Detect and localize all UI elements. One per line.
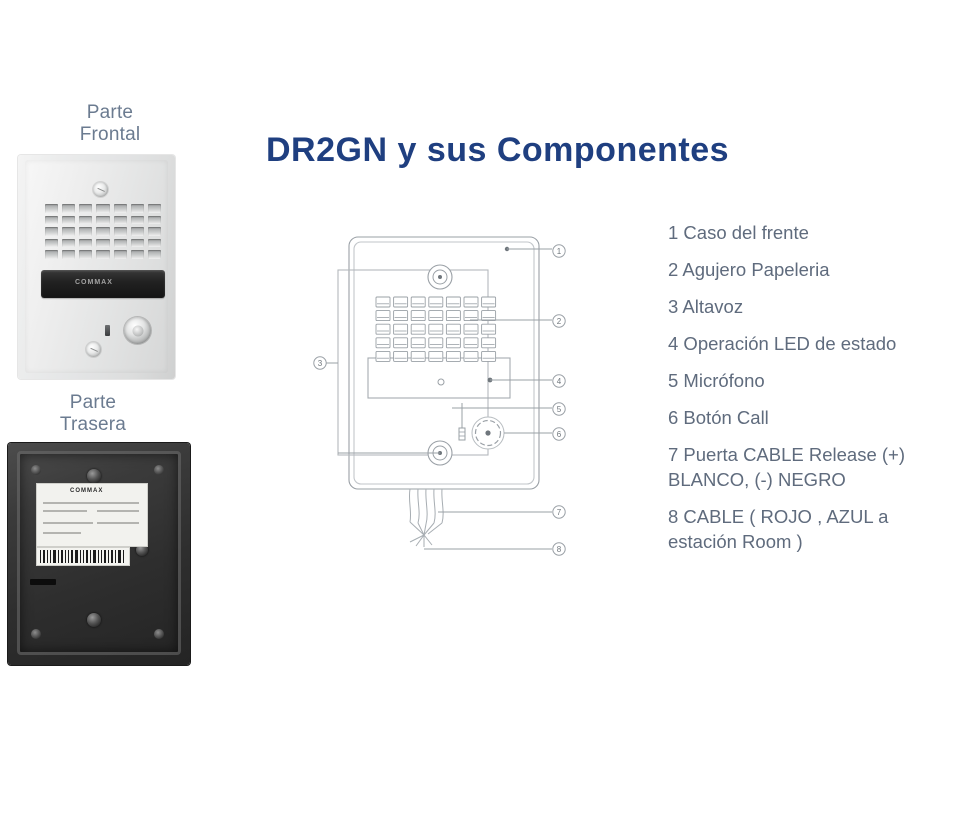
grille-slot — [376, 311, 390, 321]
grille-slot — [482, 324, 496, 334]
grille-slot — [45, 250, 58, 259]
grille-slot — [45, 216, 58, 225]
grille-slot — [394, 351, 408, 361]
grille-slot — [62, 239, 75, 248]
drawing-wire-bundle — [409, 489, 443, 547]
grille-slot — [62, 227, 75, 236]
barcode-bar — [101, 550, 102, 563]
grille-slot — [96, 216, 109, 225]
grille-slot — [79, 204, 92, 213]
rear-mount-hole-icon — [87, 469, 101, 483]
grille-slot — [131, 216, 144, 225]
grille-slot — [394, 338, 408, 348]
callout-number-1: 1 — [557, 247, 562, 256]
callout-number-2: 2 — [557, 317, 562, 326]
legend-item-5: 5 Micrófono — [668, 368, 958, 393]
grille-slot — [376, 351, 390, 361]
grille-slot — [411, 311, 425, 321]
slide-canvas: Parte Frontal COMMAX Parte Trasera COMMA… — [0, 0, 960, 820]
component-line-drawing: 12345678 — [300, 225, 590, 575]
barcode-bar — [111, 550, 113, 563]
barcode-bar — [43, 550, 45, 563]
grille-slot — [131, 250, 144, 259]
front-photo-label: Parte Frontal — [55, 102, 165, 146]
legend-item-4: 4 Operación LED de estado — [668, 331, 958, 356]
grille-slot — [446, 297, 460, 307]
grille-slot — [464, 297, 478, 307]
barcode-bar — [71, 550, 73, 563]
grille-slot — [96, 204, 109, 213]
front-call-button-icon — [124, 317, 151, 344]
grille-slot — [429, 311, 443, 321]
barcode-bar — [47, 550, 48, 563]
callout-number-7: 7 — [557, 508, 562, 517]
barcode-bar — [115, 550, 116, 563]
grille-slot — [394, 324, 408, 334]
grille-slot — [429, 297, 443, 307]
grille-slot — [96, 227, 109, 236]
grille-slot — [429, 351, 443, 361]
grille-slot — [45, 227, 58, 236]
grille-slot — [62, 216, 75, 225]
rear-corner-screw-icon — [154, 629, 164, 639]
grille-slot — [114, 204, 127, 213]
grille-slot — [79, 216, 92, 225]
barcode-bar — [80, 550, 81, 563]
grille-slot — [464, 324, 478, 334]
drawing-leader-lines — [320, 249, 552, 549]
drawing-speaker-grille — [376, 297, 496, 361]
grille-slot — [148, 239, 161, 248]
legend-item-2: 2 Agujero Papeleria — [668, 257, 958, 282]
callout-number-3: 3 — [318, 359, 323, 368]
callout-number-8: 8 — [557, 545, 562, 554]
grille-slot — [482, 311, 496, 321]
grille-slot — [446, 351, 460, 361]
rear-photo-label: Parte Trasera — [38, 392, 148, 436]
grille-slot — [79, 227, 92, 236]
grille-slot — [148, 250, 161, 259]
rear-mount-hole-icon — [87, 613, 101, 627]
barcode-bar — [86, 550, 88, 563]
barcode-bar — [90, 550, 91, 563]
rear-brand-text: COMMAX — [70, 488, 103, 494]
grille-slot — [482, 351, 496, 361]
grille-slot — [482, 297, 496, 307]
grille-slot — [114, 239, 127, 248]
barcode-bar — [123, 550, 124, 563]
barcode-bar — [65, 550, 66, 563]
drawing-screws — [428, 265, 452, 465]
barcode-bar — [53, 550, 56, 563]
front-bezel: COMMAX — [25, 160, 168, 373]
barcode-bar — [93, 550, 96, 563]
grille-slot — [411, 324, 425, 334]
page-title: DR2GN y sus Componentes — [266, 131, 729, 170]
grille-slot — [429, 338, 443, 348]
barcode-bar — [75, 550, 78, 563]
grille-slot — [79, 239, 92, 248]
front-nameplate: COMMAX — [41, 270, 165, 298]
rear-corner-screw-icon — [31, 465, 41, 475]
grille-slot — [446, 311, 460, 321]
grille-slot — [96, 239, 109, 248]
grille-slot — [446, 324, 460, 334]
drawing-microphone-hole — [438, 379, 444, 385]
front-top-screw-icon — [93, 182, 108, 197]
front-brand-text: COMMAX — [75, 279, 113, 286]
rear-corner-screw-icon — [154, 465, 164, 475]
barcode-bar — [118, 550, 121, 563]
rear-wire-slot — [30, 579, 56, 585]
legend-item-7: 7 Puerta CABLE Release (+) BLANCO, (-) N… — [668, 442, 958, 492]
callout-number-4: 4 — [557, 377, 562, 386]
rear-unit-photo: COMMAX — [8, 443, 190, 665]
grille-slot — [131, 227, 144, 236]
grille-slot — [394, 297, 408, 307]
front-bottom-screw-icon — [86, 342, 101, 357]
legend-item-6: 6 Botón Call — [668, 405, 958, 430]
grille-slot — [464, 351, 478, 361]
grille-slot — [411, 297, 425, 307]
grille-slot — [114, 227, 127, 236]
grille-slot — [411, 338, 425, 348]
barcode-bar — [104, 550, 106, 563]
grille-slot — [376, 338, 390, 348]
grille-slot — [148, 204, 161, 213]
rear-barcode-icon — [36, 547, 130, 566]
grille-slot — [79, 250, 92, 259]
grille-slot — [482, 338, 496, 348]
drawing-call-button — [472, 417, 504, 449]
rear-corner-screw-icon — [31, 629, 41, 639]
grille-slot — [62, 250, 75, 259]
rear-spec-label: COMMAX — [36, 483, 148, 547]
grille-slot — [148, 227, 161, 236]
callout-number-6: 6 — [557, 430, 562, 439]
barcode-bar — [108, 550, 109, 563]
grille-slot — [96, 250, 109, 259]
front-speaker-grille — [45, 204, 161, 259]
grille-slot — [131, 239, 144, 248]
legend-item-1: 1 Caso del frente — [668, 220, 958, 245]
barcode-bar — [98, 550, 99, 563]
barcode-bar — [50, 550, 51, 563]
grille-slot — [114, 250, 127, 259]
grille-slot — [429, 324, 443, 334]
barcode-bar — [68, 550, 69, 563]
grille-slot — [148, 216, 161, 225]
barcode-bar — [58, 550, 59, 563]
drawing-led-stem — [459, 403, 465, 440]
grille-slot — [131, 204, 144, 213]
front-status-led-icon — [105, 325, 110, 336]
front-unit-photo: COMMAX — [18, 155, 175, 379]
barcode-bar — [40, 550, 41, 563]
barcode-bar — [83, 550, 84, 563]
legend-item-8: 8 CABLE ( ROJO , AZUL a estación Room ) — [668, 504, 958, 554]
grille-slot — [411, 351, 425, 361]
callout-number-5: 5 — [557, 405, 562, 414]
barcode-bar — [61, 550, 63, 563]
grille-slot — [62, 204, 75, 213]
grille-slot — [376, 324, 390, 334]
grille-slot — [394, 311, 408, 321]
grille-slot — [446, 338, 460, 348]
grille-slot — [45, 239, 58, 248]
legend-item-3: 3 Altavoz — [668, 294, 958, 319]
component-legend: 1 Caso del frente2 Agujero Papeleria3 Al… — [668, 220, 958, 554]
grille-slot — [114, 216, 127, 225]
grille-slot — [464, 311, 478, 321]
grille-slot — [376, 297, 390, 307]
grille-slot — [45, 204, 58, 213]
drawing-callout-group: 12345678 — [314, 245, 565, 555]
grille-slot — [464, 338, 478, 348]
